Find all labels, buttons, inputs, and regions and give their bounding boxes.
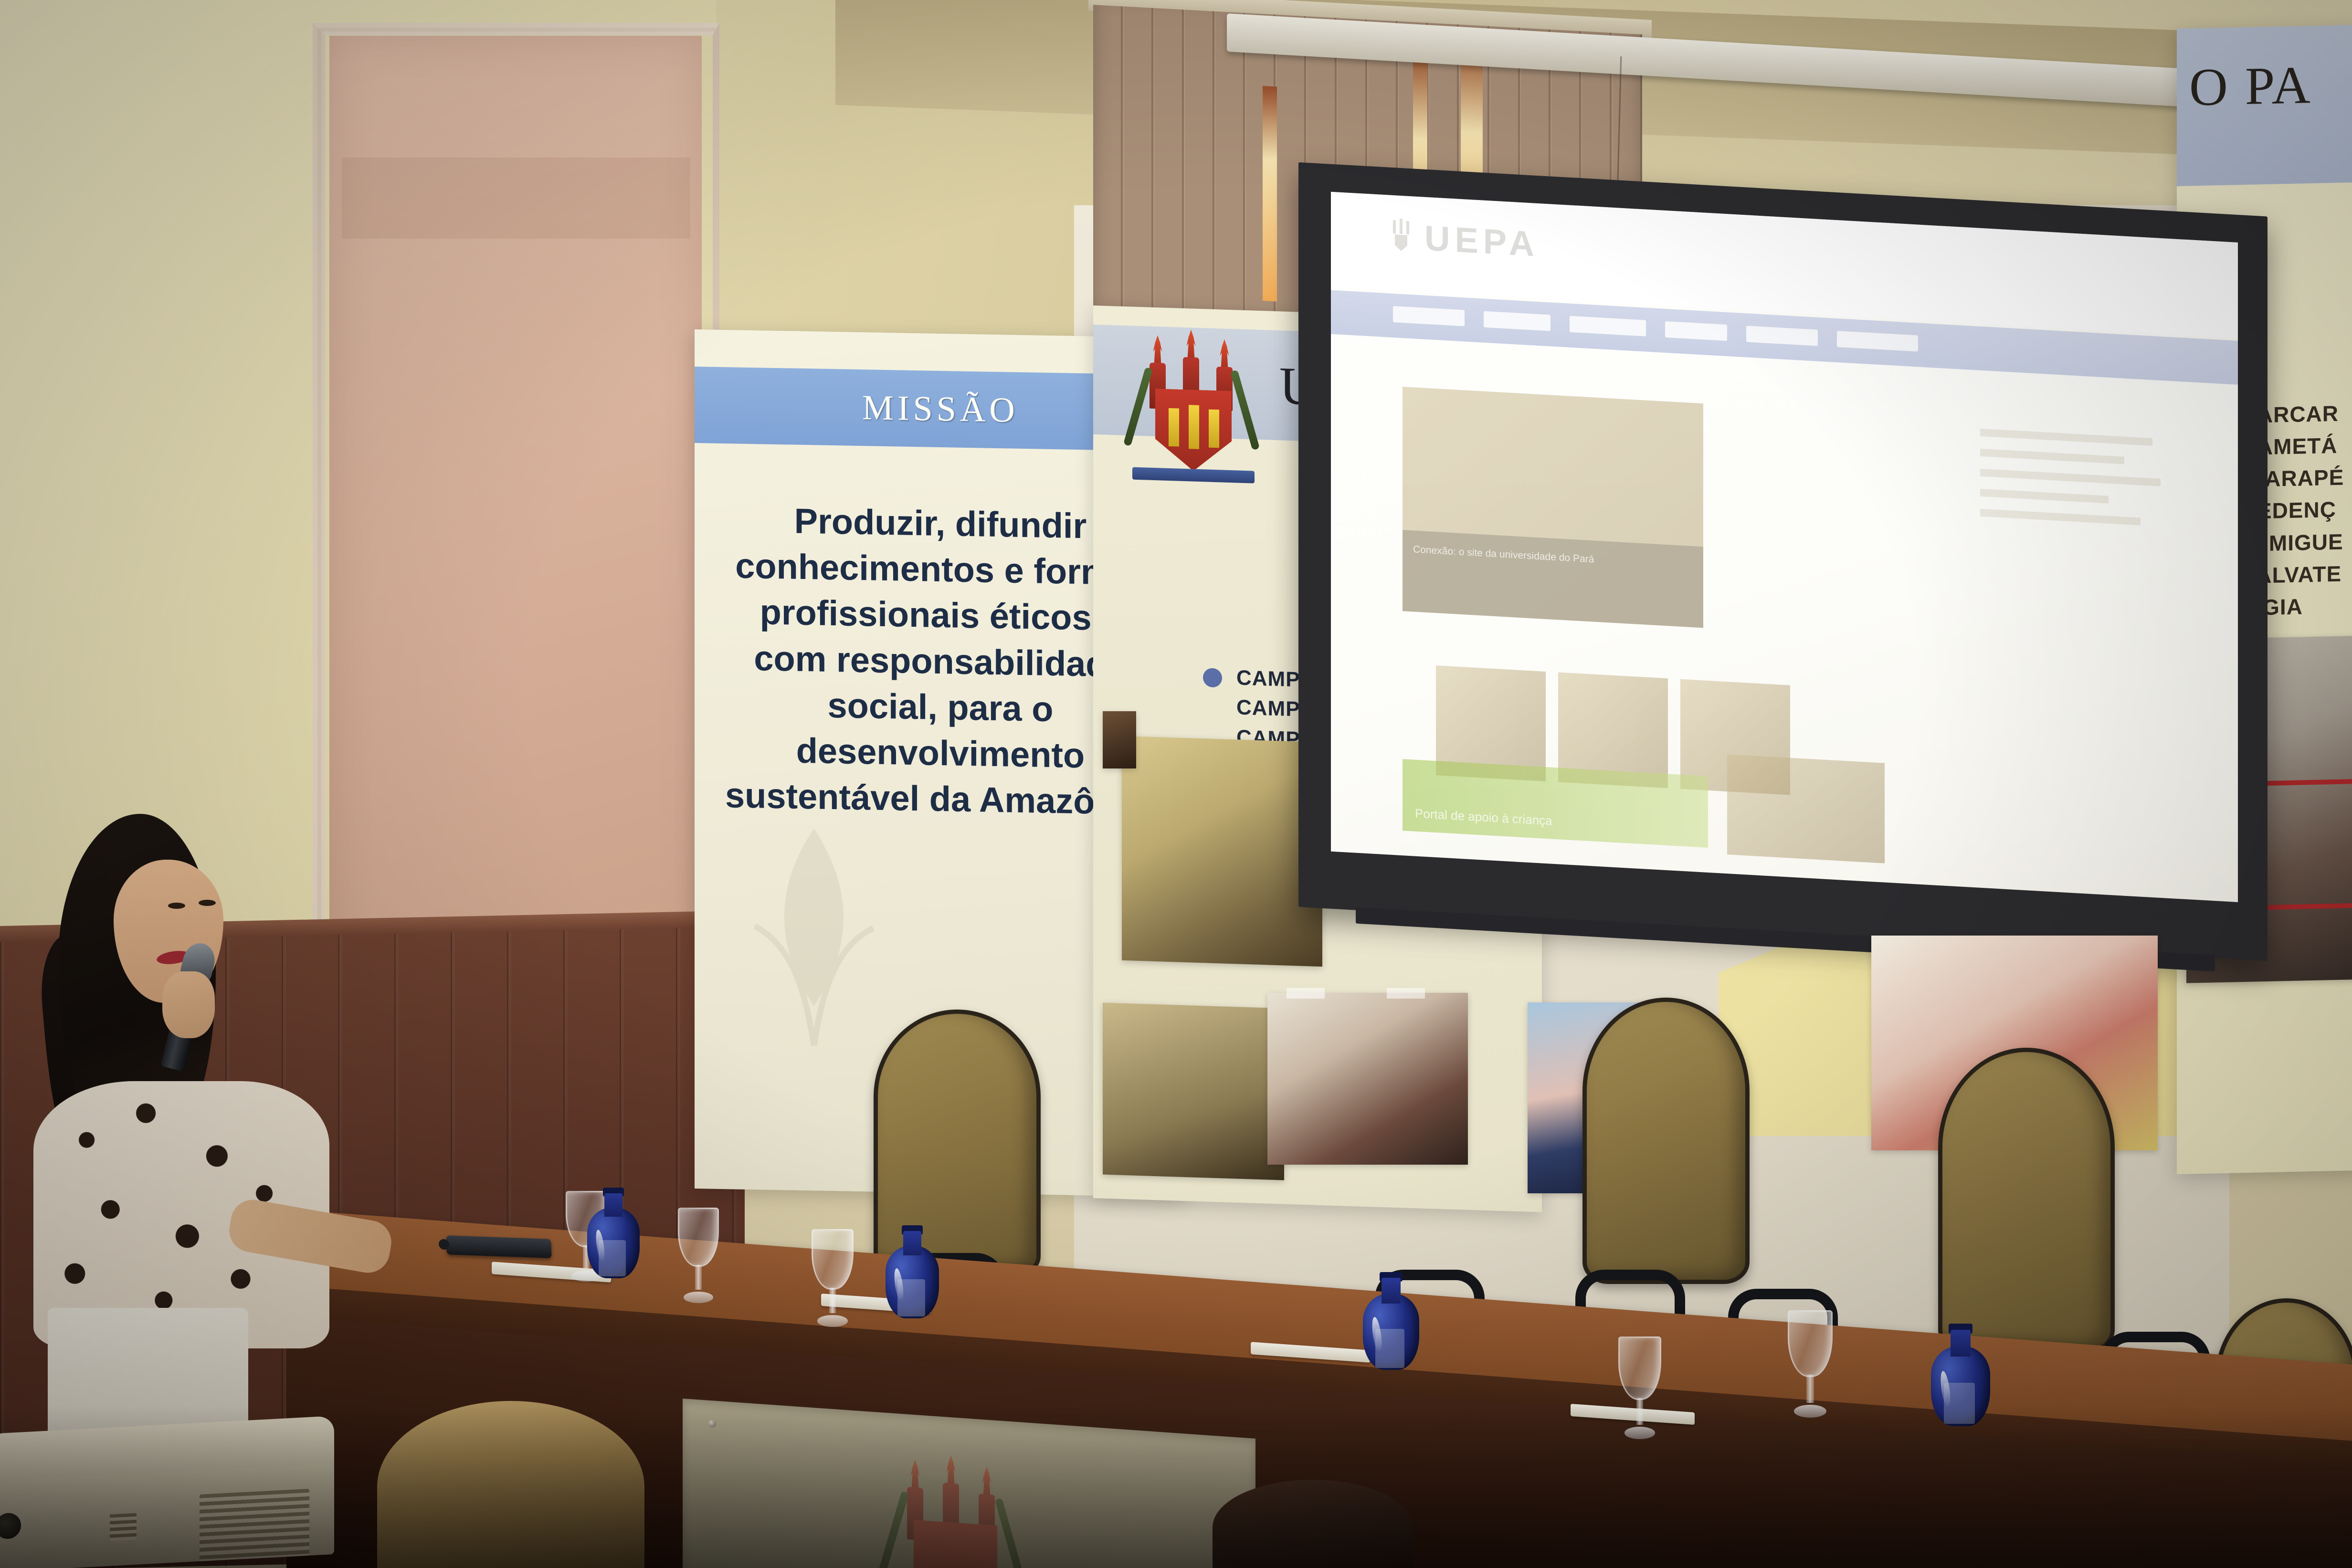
crest-laurel — [878, 1491, 909, 1568]
glass-foot — [684, 1292, 713, 1303]
water-bottle[interactable] — [587, 1208, 640, 1298]
glass-bowl — [678, 1208, 719, 1267]
projection-screen-surface[interactable]: UEPA Conexão: o site da universidade do … — [1331, 192, 2238, 902]
banner-right-title: O PA — [2189, 54, 2312, 118]
audience-member-head — [1213, 1480, 1413, 1568]
panel-screw — [708, 1420, 716, 1428]
crest-flame — [1183, 329, 1199, 359]
water-bottle[interactable] — [1363, 1294, 1419, 1391]
photo-tape — [1287, 988, 1325, 999]
door-frame-molding — [313, 23, 719, 997]
crest-flame — [907, 1459, 923, 1490]
water-glass[interactable] — [812, 1229, 854, 1327]
crest-pillar — [1169, 408, 1179, 447]
uepa-crest — [1122, 330, 1265, 492]
glass-foot — [1794, 1405, 1826, 1418]
projector-vent-grille — [200, 1489, 309, 1561]
campus-list-bullet — [1203, 668, 1222, 687]
speaker-person — [29, 814, 363, 1444]
glass-stem — [1636, 1398, 1643, 1425]
website-nav-item[interactable] — [1393, 306, 1465, 326]
water-glass[interactable] — [1618, 1336, 1661, 1439]
conference-chair[interactable] — [1582, 998, 1750, 1284]
glass-bowl — [1788, 1310, 1833, 1377]
crest-flame — [979, 1466, 995, 1496]
water-bottle[interactable] — [886, 1246, 939, 1339]
bottle-neck — [903, 1231, 921, 1255]
banner-uepa-photo — [1103, 1003, 1284, 1180]
conference-chair[interactable] — [874, 1010, 1041, 1277]
banner-missao-heading: MISSÃO — [862, 388, 1019, 431]
website-nav-item[interactable] — [1837, 331, 1918, 352]
speaker-hand — [162, 971, 215, 1038]
website-green-banner-text: Portal de apoio à criança — [1415, 806, 1552, 829]
auditorium-scene: MISSÃO Produzir, difundir conhecimentos … — [0, 0, 2352, 1568]
crest-pillar — [1209, 410, 1219, 448]
website-logo[interactable]: UEPA — [1388, 215, 1539, 265]
crest-laurel — [1230, 370, 1260, 451]
bottle-neck — [1951, 1330, 1971, 1357]
website-hero-image[interactable]: Conexão: o site da universidade do Pará — [1403, 387, 1703, 628]
chair-back — [1582, 998, 1750, 1284]
water-glass[interactable] — [1788, 1310, 1833, 1418]
table-panel-crest — [874, 1450, 1036, 1568]
blinds-light-gap — [1263, 86, 1277, 302]
projected-website: UEPA Conexão: o site da universidade do … — [1331, 192, 2238, 902]
glass-bowl — [812, 1229, 854, 1290]
projector-vent-grille — [110, 1513, 137, 1541]
bottle-neck — [604, 1193, 622, 1217]
speaker-eye — [199, 900, 216, 906]
banner-uepa-photo — [1122, 736, 1322, 967]
glass-stem — [829, 1288, 836, 1313]
chair-back — [1938, 1048, 2115, 1353]
projection-screen[interactable]: UEPA Conexão: o site da universidade do … — [1298, 162, 2268, 961]
crest-pillar — [1189, 405, 1199, 449]
chair-back — [874, 1010, 1041, 1277]
video-projector[interactable] — [0, 1416, 334, 1568]
website-nav-item[interactable] — [1746, 326, 1818, 346]
website-wordmark: UEPA — [1424, 217, 1539, 264]
website-hero-caption: Conexão: o site da universidade do Pará — [1403, 530, 1703, 628]
water-glass[interactable] — [678, 1208, 719, 1303]
photo-tape — [1387, 988, 1425, 999]
website-sidebar-text — [1980, 429, 2181, 707]
glass-foot — [1624, 1427, 1656, 1439]
bottle-neck — [1382, 1278, 1401, 1303]
glass-bowl — [1618, 1336, 1661, 1400]
conference-chair[interactable] — [1938, 1048, 2115, 1353]
wall-photo — [1103, 711, 1136, 768]
water-bottle[interactable] — [1931, 1346, 1990, 1449]
crest-laurel — [1123, 367, 1153, 447]
audience-member-head — [377, 1401, 644, 1568]
glass-stem — [695, 1265, 702, 1290]
crest-flame — [1216, 339, 1233, 369]
glass-foot — [817, 1315, 847, 1327]
crest-shield — [914, 1520, 997, 1568]
website-nav-item[interactable] — [1665, 321, 1727, 341]
glass-stem — [1806, 1375, 1814, 1403]
website-bottom-image[interactable] — [1727, 754, 1885, 863]
crest-ribbon — [1132, 467, 1255, 484]
presentation-remote[interactable] — [446, 1235, 551, 1258]
website-crest-icon — [1388, 215, 1414, 258]
wall-photo — [1267, 993, 1468, 1165]
crest-flame — [943, 1455, 959, 1485]
speaker-eye — [168, 903, 185, 909]
website-nav-item[interactable] — [1570, 316, 1646, 337]
website-hero-date-badge — [1403, 387, 1703, 403]
crest-laurel — [995, 1498, 1026, 1568]
website-nav-item[interactable] — [1484, 311, 1550, 331]
crest-flame — [1150, 335, 1166, 365]
